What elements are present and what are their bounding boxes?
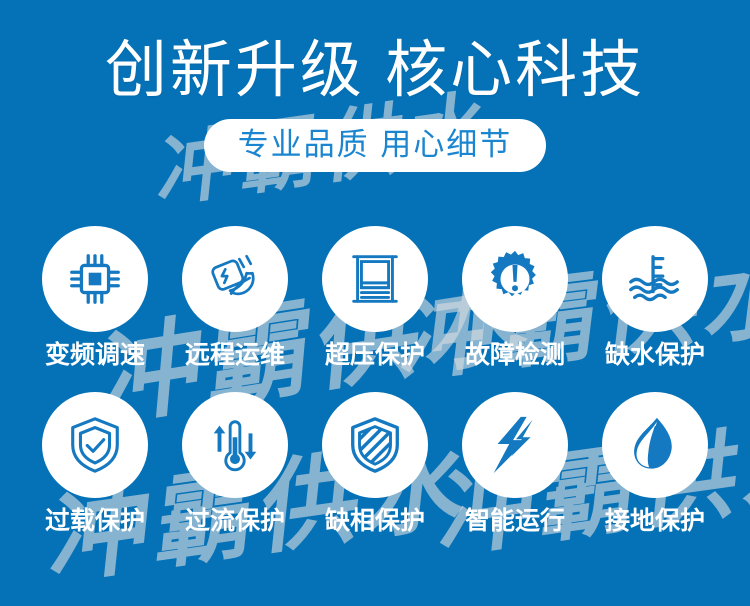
feature-label: 超压保护 (325, 341, 425, 370)
plug-leaf-icon (204, 248, 266, 310)
gear-alert-icon (484, 248, 546, 310)
promo-banner: 冲霸供水 冲霸供水 冲霸供水 冲霸供水 冲霸供水 创新升级 核心科技 专业品质 … (0, 0, 750, 606)
feature-label: 过流保护 (185, 507, 285, 536)
icon-circle (182, 226, 288, 332)
feature-item-bianpin-tiaosu: 变频调速 (25, 226, 165, 370)
feature-item-guzhang-jiance: 故障检测 (445, 226, 585, 370)
page-title: 创新升级 核心科技 (0, 38, 750, 103)
lightning-bolt-icon (484, 414, 546, 476)
icon-circle (42, 226, 148, 332)
icon-circle (462, 226, 568, 332)
leaf-flame-icon (624, 414, 686, 476)
badge-row: 专业品质 用心细节 (0, 119, 750, 172)
tagline-badge: 专业品质 用心细节 (204, 119, 547, 172)
feature-label: 远程运维 (185, 341, 285, 370)
feature-grid: 变频调速 远程运维 (0, 226, 750, 536)
feature-label: 缺相保护 (325, 507, 425, 536)
feature-item-queshui-baohu: 缺水保护 (585, 226, 725, 370)
feature-label: 故障检测 (465, 341, 565, 370)
feature-label: 接地保护 (605, 507, 705, 536)
feature-item-yuancheng-yunwei: 远程运维 (165, 226, 305, 370)
feature-item-chaoya-baohu: 超压保护 (305, 226, 445, 370)
icon-circle (322, 226, 428, 332)
feature-item-zhineng-yunxing: 智能运行 (445, 392, 585, 536)
icon-circle (322, 392, 428, 498)
feature-label: 缺水保护 (605, 341, 705, 370)
water-level-gauge-icon (624, 248, 686, 310)
icon-circle (602, 226, 708, 332)
thermometer-arrows-icon (204, 414, 266, 476)
feature-item-guozai-baohu: 过载保护 (25, 392, 165, 536)
cpu-chip-icon (64, 248, 126, 310)
icon-circle (182, 392, 288, 498)
feature-label: 智能运行 (465, 507, 565, 536)
feature-item-quexiang-baohu: 缺相保护 (305, 392, 445, 536)
feature-item-jiedi-baohu: 接地保护 (585, 392, 725, 536)
icon-circle (42, 392, 148, 498)
shield-check-icon (64, 414, 126, 476)
icon-circle (462, 392, 568, 498)
icon-circle (602, 392, 708, 498)
feature-label: 变频调速 (45, 341, 145, 370)
feature-label: 过载保护 (45, 507, 145, 536)
banner-header: 创新升级 核心科技 专业品质 用心细节 (0, 0, 750, 172)
shield-stripes-icon (344, 414, 406, 476)
press-frame-icon (344, 248, 406, 310)
feature-item-guoliu-baohu: 过流保护 (165, 392, 305, 536)
